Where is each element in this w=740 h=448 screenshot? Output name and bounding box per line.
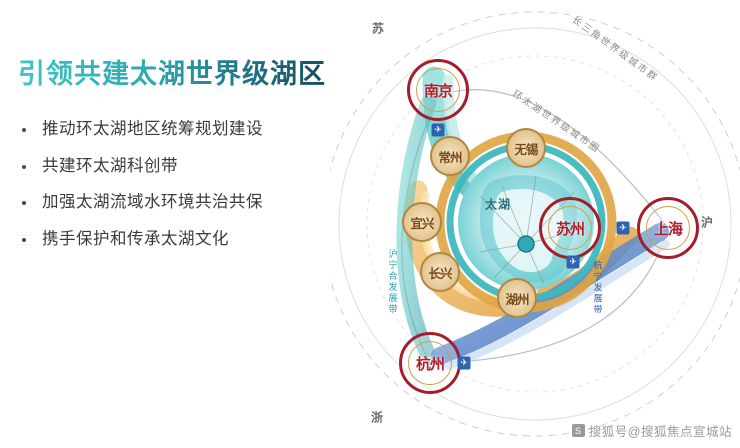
city-label: 南京 bbox=[424, 80, 452, 101]
city-label: 上海 bbox=[654, 218, 682, 239]
bullet-dot-icon bbox=[22, 238, 26, 242]
city-label: 宜兴 bbox=[410, 213, 433, 232]
bullet-dot-icon bbox=[22, 165, 26, 169]
airport-icon: ✈ bbox=[567, 256, 580, 269]
bullet-text: 推动环太湖地区统筹规划建设 bbox=[42, 117, 263, 143]
airport-icon: ✈ bbox=[432, 124, 445, 137]
province-label-zhejiang: 浙 bbox=[371, 409, 383, 426]
list-item: 携手保护和传承太湖文化 bbox=[18, 227, 360, 253]
city-label: 苏州 bbox=[556, 218, 584, 239]
node-inner-ring: 南京 bbox=[416, 68, 460, 112]
list-item: 共建环太湖科创带 bbox=[18, 154, 360, 180]
text-panel: 引领共建太湖世界级湖区 推动环太湖地区统筹规划建设 共建环太湖科创带 加强太湖流… bbox=[0, 0, 360, 448]
corridor-label-huningHe: 沪宁合发展带 bbox=[387, 249, 400, 315]
city-node-changzhou[interactable]: 常州 bbox=[430, 136, 470, 176]
bullet-list: 推动环太湖地区统筹规划建设 共建环太湖科创带 加强太湖流域水环境共治共保 携手保… bbox=[18, 117, 360, 252]
airport-icon: ✈ bbox=[458, 357, 471, 370]
province-label-jiangsu: 苏 bbox=[372, 20, 384, 37]
list-item: 加强太湖流域水环境共治共保 bbox=[18, 190, 360, 216]
bullet-dot-icon bbox=[22, 201, 26, 205]
city-label: 常州 bbox=[438, 147, 461, 166]
airport-icon: ✈ bbox=[617, 222, 630, 235]
lake-label: 太湖 bbox=[485, 196, 511, 213]
city-node-shanghai[interactable]: 上海 bbox=[637, 197, 699, 259]
city-node-suzhou[interactable]: 苏州 bbox=[539, 197, 601, 259]
city-node-changxing[interactable]: 长兴 bbox=[420, 252, 460, 292]
list-item: 推动环太湖地区统筹规划建设 bbox=[18, 117, 360, 143]
city-node-hangzhou[interactable]: 杭州 bbox=[399, 332, 461, 394]
page-title: 引领共建太湖世界级湖区 bbox=[18, 52, 360, 91]
bullet-text: 携手保护和传承太湖文化 bbox=[42, 227, 229, 253]
bullet-text: 共建环太湖科创带 bbox=[42, 154, 178, 180]
city-label: 湖州 bbox=[505, 289, 528, 308]
corridor-label-hangning: 杭宁发展带 bbox=[592, 261, 605, 316]
watermark: S 搜狐号@搜狐焦点宣城站 bbox=[572, 421, 732, 440]
node-inner-ring: 上海 bbox=[646, 206, 690, 250]
province-label-shanghai: 沪 bbox=[701, 214, 713, 231]
bullet-text: 加强太湖流域水环境共治共保 bbox=[42, 190, 263, 216]
city-label: 长兴 bbox=[428, 263, 451, 282]
node-inner-ring: 杭州 bbox=[408, 341, 452, 385]
city-node-wuxi[interactable]: 无锡 bbox=[506, 128, 546, 168]
city-node-yixing[interactable]: 宜兴 bbox=[402, 202, 442, 242]
city-node-nanjing[interactable]: 南京 bbox=[407, 59, 469, 121]
node-inner-ring: 苏州 bbox=[548, 206, 592, 250]
city-label: 杭州 bbox=[416, 353, 444, 374]
city-label: 无锡 bbox=[514, 139, 537, 158]
sohu-logo-icon: S bbox=[572, 424, 585, 437]
taihu-region-diagram: 太湖 南京 ✈ 苏州 ✈ 上海 ✈ 杭州 ✈ 常州 无锡 宜兴 长兴 湖州 bbox=[330, 0, 740, 448]
bullet-dot-icon bbox=[22, 128, 26, 132]
city-node-huzhou[interactable]: 湖州 bbox=[497, 278, 537, 318]
watermark-text: 搜狐号@搜狐焦点宣城站 bbox=[589, 421, 732, 440]
